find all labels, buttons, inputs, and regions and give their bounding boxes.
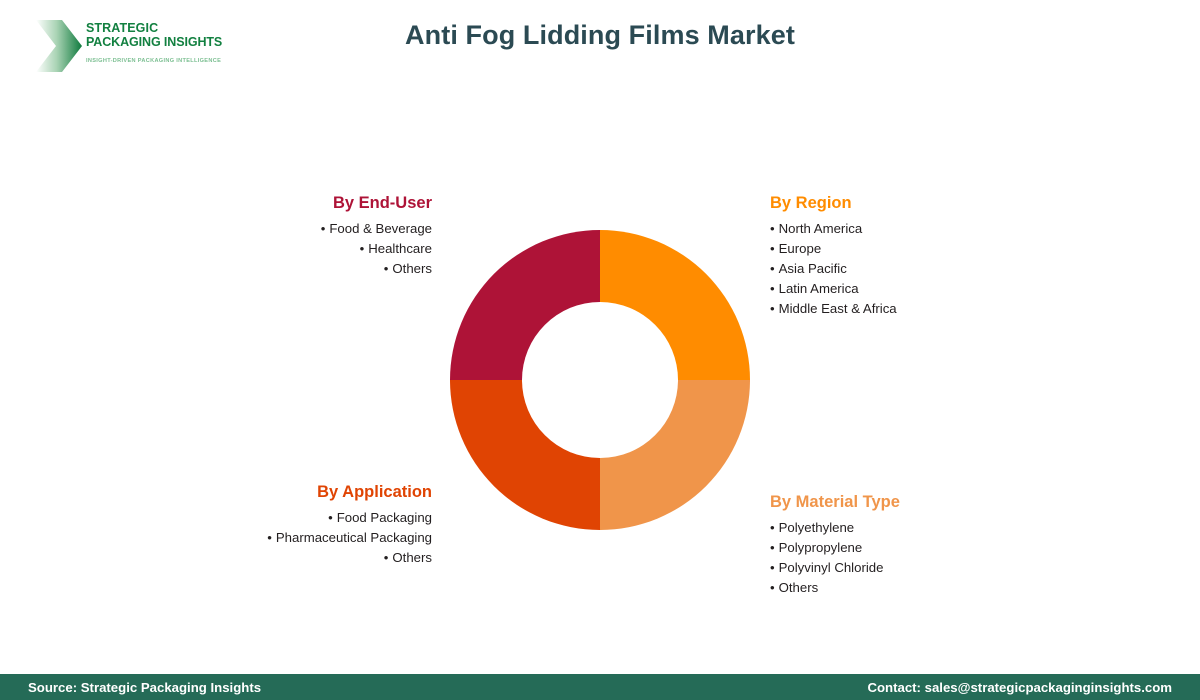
list-item: •Food & Beverage — [180, 219, 432, 239]
segment-list-material-type: •Polyethylene•Polypropylene•Polyvinyl Ch… — [770, 518, 1070, 598]
footer-source: Source: Strategic Packaging Insights — [28, 680, 261, 695]
segment-application: By Application •Food Packaging•Pharmaceu… — [130, 483, 432, 568]
segment-list-application: •Food Packaging•Pharmaceutical Packaging… — [130, 508, 432, 568]
bullet-icon: • — [384, 261, 389, 276]
segment-title-region: By Region — [770, 194, 1070, 213]
bullet-icon: • — [360, 241, 365, 256]
list-item: •Healthcare — [180, 239, 432, 259]
list-item-label: Europe — [779, 241, 822, 256]
donut-hole — [522, 302, 678, 458]
bullet-icon: • — [328, 510, 333, 525]
infographic-page: STRATEGIC PACKAGING INSIGHTS INSIGHT-DRI… — [0, 0, 1200, 700]
list-item: •Europe — [770, 239, 1070, 259]
bullet-icon: • — [770, 241, 775, 256]
segment-list-end-user: •Food & Beverage•Healthcare•Others — [180, 219, 432, 279]
list-item-label: Middle East & Africa — [779, 301, 897, 316]
logo-tagline: INSIGHT-DRIVEN PACKAGING INTELLIGENCE — [86, 58, 226, 64]
segment-region: By Region •North America•Europe•Asia Pac… — [770, 194, 1070, 319]
segment-material-type: By Material Type •Polyethylene•Polypropy… — [770, 493, 1070, 598]
list-item: •Asia Pacific — [770, 259, 1070, 279]
list-item-label: Others — [392, 550, 432, 565]
bullet-icon: • — [384, 550, 389, 565]
list-item-label: Others — [392, 261, 432, 276]
segment-title-material-type: By Material Type — [770, 493, 1070, 512]
page-title: Anti Fog Lidding Films Market — [0, 20, 1200, 51]
list-item-label: North America — [779, 221, 863, 236]
footer-bar: Source: Strategic Packaging Insights Con… — [0, 674, 1200, 700]
footer-contact[interactable]: Contact: sales@strategicpackaginginsight… — [867, 680, 1172, 695]
list-item-label: Food & Beverage — [329, 221, 432, 236]
bullet-icon: • — [770, 281, 775, 296]
segment-end-user: By End-User •Food & Beverage•Healthcare•… — [180, 194, 432, 279]
bullet-icon: • — [770, 580, 775, 595]
segment-title-end-user: By End-User — [180, 194, 432, 213]
bullet-icon: • — [770, 301, 775, 316]
list-item: •Polyvinyl Chloride — [770, 558, 1070, 578]
list-item-label: Others — [779, 580, 819, 595]
list-item: •Others — [180, 259, 432, 279]
segment-list-region: •North America•Europe•Asia Pacific•Latin… — [770, 219, 1070, 319]
list-item-label: Latin America — [779, 281, 859, 296]
bullet-icon: • — [267, 530, 272, 545]
bullet-icon: • — [770, 221, 775, 236]
list-item-label: Pharmaceutical Packaging — [276, 530, 432, 545]
list-item: •Polypropylene — [770, 538, 1070, 558]
list-item: •Latin America — [770, 279, 1070, 299]
bullet-icon: • — [770, 540, 775, 555]
list-item-label: Polyethylene — [779, 520, 855, 535]
list-item: •Middle East & Africa — [770, 299, 1070, 319]
list-item: •North America — [770, 219, 1070, 239]
list-item: •Others — [770, 578, 1070, 598]
list-item: •Others — [130, 548, 432, 568]
bullet-icon: • — [770, 261, 775, 276]
list-item-label: Asia Pacific — [779, 261, 847, 276]
segment-title-application: By Application — [130, 483, 432, 502]
bullet-icon: • — [770, 520, 775, 535]
list-item: •Food Packaging — [130, 508, 432, 528]
list-item: •Pharmaceutical Packaging — [130, 528, 432, 548]
bullet-icon: • — [770, 560, 775, 575]
bullet-icon: • — [321, 221, 326, 236]
list-item: •Polyethylene — [770, 518, 1070, 538]
donut-chart-svg — [450, 230, 750, 530]
list-item-label: Food Packaging — [337, 510, 432, 525]
list-item-label: Polypropylene — [779, 540, 863, 555]
donut-chart — [450, 230, 750, 530]
list-item-label: Polyvinyl Chloride — [779, 560, 884, 575]
list-item-label: Healthcare — [368, 241, 432, 256]
